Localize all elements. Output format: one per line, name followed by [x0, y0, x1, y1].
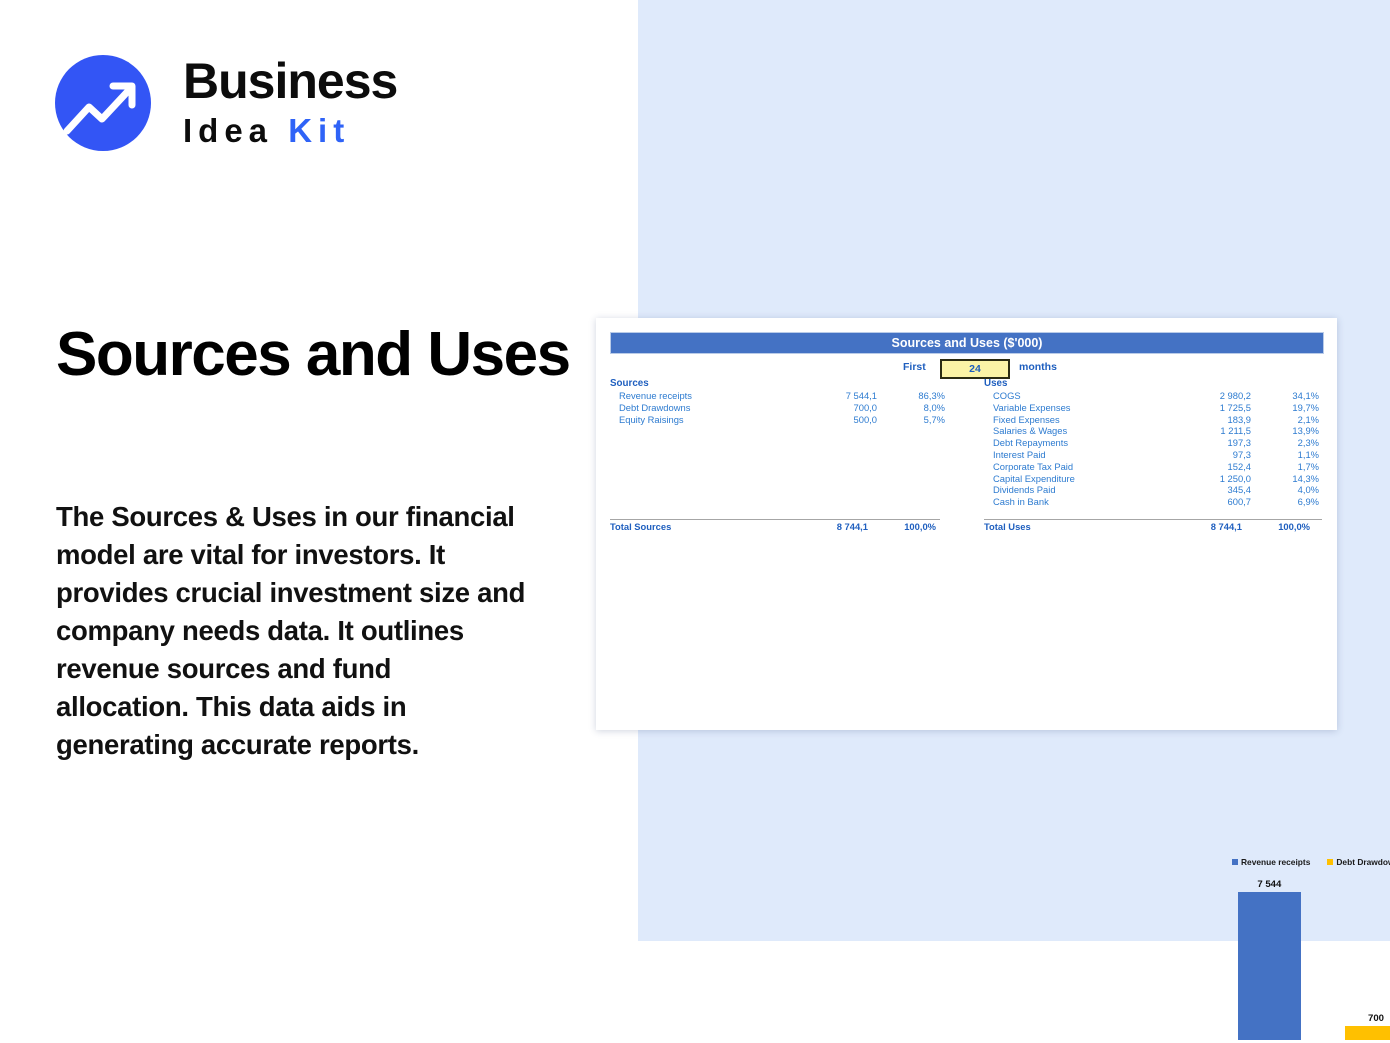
uses-table: Uses COGS2 980,234,1%Variable Expenses1 … [984, 378, 1322, 534]
spreadsheet-card: Sources and Uses ($'000) First 24 months… [596, 318, 1337, 730]
sources-row-pct: 8,0% [877, 402, 945, 414]
uses-row-value: 2 980,2 [1161, 390, 1251, 402]
uses-row-value: 600,7 [1161, 496, 1251, 508]
uses-row-label: Corporate Tax Paid [984, 461, 1161, 473]
uses-total-row: Total Uses 8 744,1 100,0% [984, 519, 1322, 534]
uses-row-pct: 2,3% [1251, 437, 1319, 449]
legend-item: Debt Drawdowns [1327, 857, 1390, 867]
period-selector-row: First 24 months [610, 359, 1322, 377]
uses-row-label: Capital Expenditure [984, 473, 1161, 485]
uses-row-label: Dividends Paid [984, 484, 1161, 496]
uses-row-pct: 4,0% [1251, 484, 1319, 496]
uses-row-value: 152,4 [1161, 461, 1251, 473]
uses-row-value: 1 725,5 [1161, 402, 1251, 414]
sources-total-label: Total Sources [610, 520, 778, 534]
brand-logo: Business Idea Kit [55, 53, 455, 158]
table-row: COGS2 980,234,1% [984, 390, 1322, 402]
period-suffix-label: months [1019, 361, 1057, 373]
sources-row-value: 700,0 [787, 402, 877, 414]
table-row: Variable Expenses1 725,519,7% [984, 402, 1322, 414]
bar-column: 700 [1323, 874, 1390, 1040]
period-prefix-label: First [903, 361, 926, 373]
sources-total-row: Total Sources 8 744,1 100,0% [610, 519, 940, 534]
uses-total-value: 8 744,1 [1152, 520, 1242, 534]
table-row: Debt Drawdowns700,08,0% [610, 402, 940, 414]
uses-row-pct: 13,9% [1251, 425, 1319, 437]
bar-rect [1238, 892, 1301, 1040]
sources-total-value: 8 744,1 [778, 520, 868, 534]
trend-arrow-circle-icon [55, 55, 151, 151]
uses-row-pct: 19,7% [1251, 402, 1319, 414]
legend-swatch-icon [1232, 859, 1238, 865]
sources-table: Sources Revenue receipts7 544,186,3%Debt… [610, 378, 940, 534]
sources-table-body: Revenue receipts7 544,186,3%Debt Drawdow… [610, 390, 940, 519]
sources-row-value: 500,0 [787, 414, 877, 426]
uses-row-value: 183,9 [1161, 414, 1251, 426]
sources-table-header: Sources [610, 378, 940, 389]
months-input[interactable]: 24 [940, 359, 1010, 379]
page-title: Sources and Uses [56, 322, 596, 388]
table-row: Debt Repayments197,32,3% [984, 437, 1322, 449]
legend-label: Debt Drawdowns [1336, 857, 1390, 867]
table-row: Dividends Paid345,44,0% [984, 484, 1322, 496]
sources-row-label: Equity Raisings [610, 414, 787, 426]
legend-swatch-icon [1327, 859, 1333, 865]
sources-chart-legend: Revenue receiptsDebt DrawdownsEquity Rai… [1232, 857, 1390, 867]
uses-row-value: 97,3 [1161, 449, 1251, 461]
uses-table-body: COGS2 980,234,1%Variable Expenses1 725,5… [984, 390, 1322, 519]
legend-label: Revenue receipts [1241, 857, 1310, 867]
sources-row-label: Debt Drawdowns [610, 402, 787, 414]
uses-row-label: Variable Expenses [984, 402, 1161, 414]
table-row: Salaries & Wages1 211,513,9% [984, 425, 1322, 437]
sources-row-value: 7 544,1 [787, 390, 877, 402]
sources-bar-chart: 7 544700500 [1216, 874, 1390, 1040]
uses-row-value: 1 250,0 [1161, 473, 1251, 485]
uses-table-header: Uses [984, 378, 1322, 389]
uses-row-value: 197,3 [1161, 437, 1251, 449]
uses-row-value: 345,4 [1161, 484, 1251, 496]
sources-row-pct: 86,3% [877, 390, 945, 402]
page-description: The Sources & Uses in our financial mode… [56, 498, 526, 764]
uses-row-pct: 6,9% [1251, 496, 1319, 508]
uses-row-label: COGS [984, 390, 1161, 402]
table-row: Equity Raisings500,05,7% [610, 414, 940, 426]
uses-row-label: Fixed Expenses [984, 414, 1161, 426]
uses-total-pct: 100,0% [1242, 520, 1310, 534]
sources-total-pct: 100,0% [868, 520, 936, 534]
sheet-title: Sources and Uses ($'000) [610, 332, 1324, 354]
uses-row-value: 1 211,5 [1161, 425, 1251, 437]
table-row: Corporate Tax Paid152,41,7% [984, 461, 1322, 473]
brand-name-idea: Idea [183, 112, 273, 149]
table-row: Capital Expenditure1 250,014,3% [984, 473, 1322, 485]
uses-row-pct: 34,1% [1251, 390, 1319, 402]
sources-row-label: Revenue receipts [610, 390, 787, 402]
uses-row-pct: 14,3% [1251, 473, 1319, 485]
table-row: Interest Paid97,31,1% [984, 449, 1322, 461]
uses-row-pct: 1,7% [1251, 461, 1319, 473]
bar-value-label: 7 544 [1257, 879, 1281, 890]
brand-name-primary: Business [183, 53, 503, 109]
bar-column: 7 544 [1216, 874, 1323, 1040]
uses-row-label: Salaries & Wages [984, 425, 1161, 437]
legend-item: Revenue receipts [1232, 857, 1310, 867]
sources-row-pct: 5,7% [877, 414, 945, 426]
uses-row-label: Debt Repayments [984, 437, 1161, 449]
uses-row-label: Cash in Bank [984, 496, 1161, 508]
uses-row-label: Interest Paid [984, 449, 1161, 461]
bar-value-label: 700 [1368, 1013, 1384, 1024]
uses-row-pct: 2,1% [1251, 414, 1319, 426]
table-row: Cash in Bank600,76,9% [984, 496, 1322, 508]
uses-total-label: Total Uses [984, 520, 1152, 534]
uses-row-pct: 1,1% [1251, 449, 1319, 461]
table-row: Revenue receipts7 544,186,3% [610, 390, 940, 402]
bar-rect [1345, 1026, 1390, 1040]
brand-name-kit: Kit [288, 112, 350, 149]
table-row: Fixed Expenses183,92,1% [984, 414, 1322, 426]
